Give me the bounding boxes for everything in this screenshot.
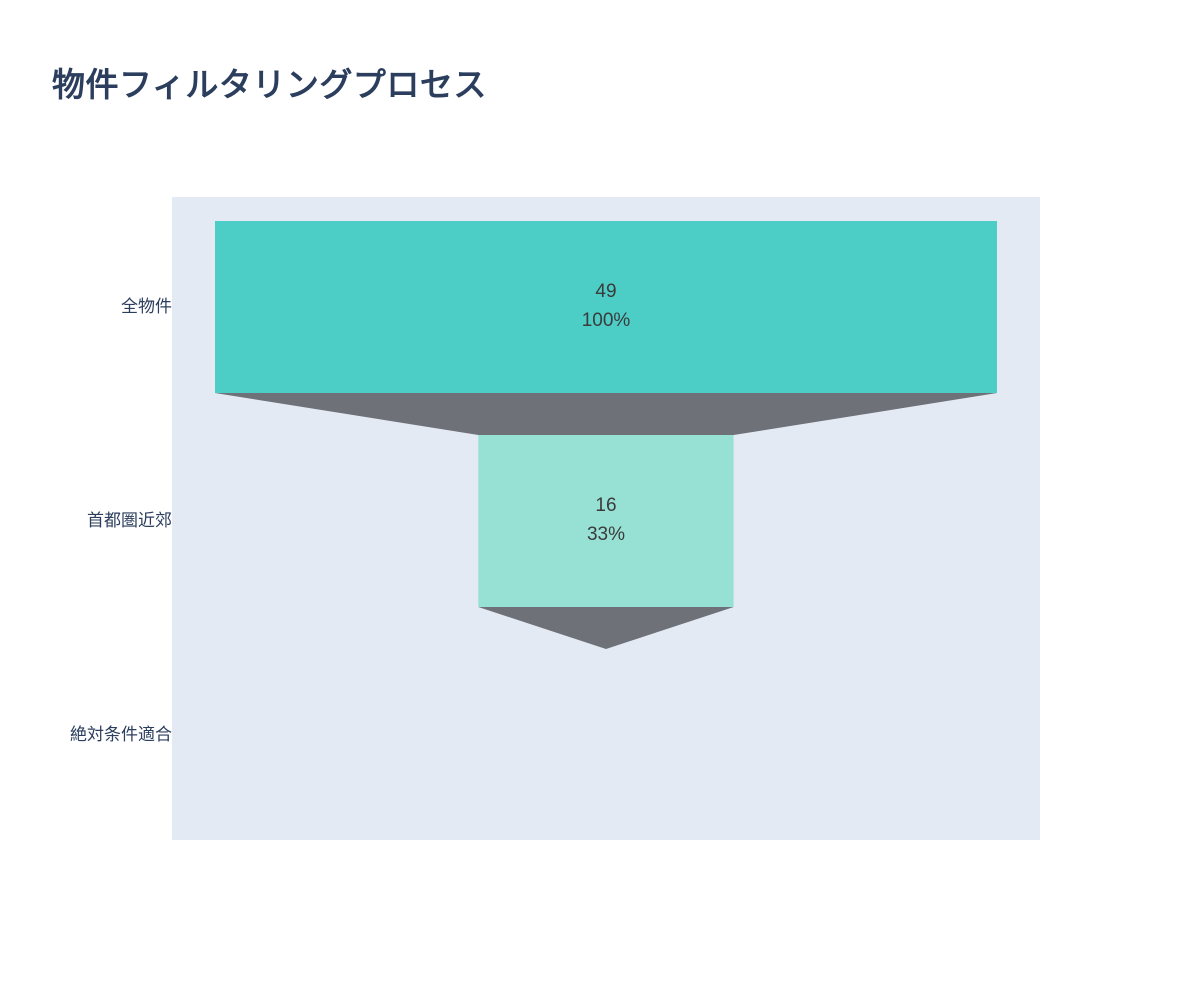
funnel-connector-2-to-3 <box>478 607 733 649</box>
plot-area: 49 100% 16 33% <box>172 197 1040 840</box>
stage-axis-label-must-conditions: 絶対条件適合 <box>0 726 172 743</box>
funnel-chart: 物件フィルタリングプロセス 全物件 首都圏近郊 絶対条件適合 49 100% 1… <box>0 0 1200 1000</box>
funnel-connector-1-to-2 <box>215 393 997 435</box>
funnel-segment-all-properties[interactable] <box>215 221 997 393</box>
funnel-segment-metro-suburbs[interactable] <box>478 435 733 607</box>
chart-title: 物件フィルタリングプロセス <box>52 58 487 106</box>
stage-axis-label-all-properties: 全物件 <box>0 298 172 315</box>
stage-axis-label-metro-suburbs: 首都圏近郊 <box>0 512 172 529</box>
funnel-shapes <box>172 197 1040 840</box>
